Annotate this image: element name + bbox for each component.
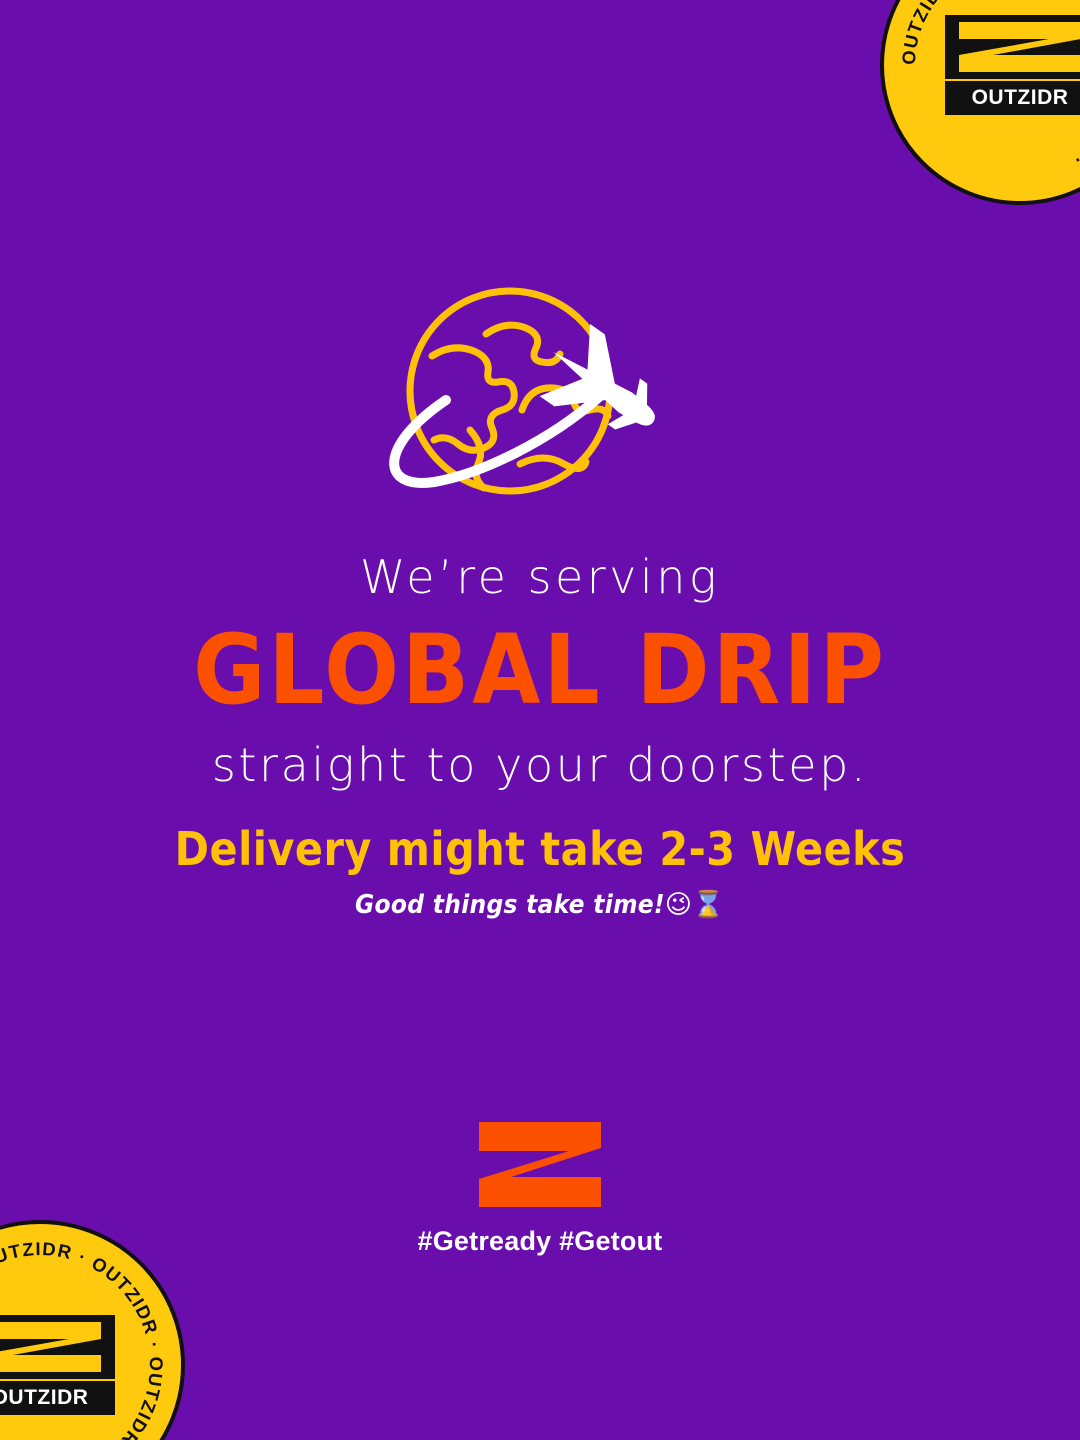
badge-wordmark-box: OUTZIDR: [0, 1381, 115, 1415]
headline-line-1: We’re serving: [0, 552, 1080, 603]
badge-wordmark-box: OUTZIDR: [945, 81, 1080, 115]
outzidr-badge-top-right: OUTZIDR · OUTZIDR · OUTZIDR · OUTZIDR · …: [880, 0, 1080, 205]
footer-block: #Getready #Getout: [0, 1122, 1080, 1257]
badge-core-top-right: OUTZIDR: [945, 15, 1080, 115]
hero-icon-wrap: [0, 278, 1080, 508]
badge-wordmark: OUTZIDR: [972, 86, 1069, 110]
delivery-emoji: 😉⌛: [665, 890, 725, 920]
headline-line-3: straight to your doorstep.: [0, 740, 1080, 791]
headline-line-2: GLOBAL DRIP: [0, 613, 1080, 728]
headline-block: We’re serving GLOBAL DRIP straight to yo…: [0, 552, 1080, 790]
badge-core-bottom-left: OUTZIDR: [0, 1315, 115, 1415]
delivery-subtext-row: Good things take time!😉⌛: [0, 890, 1080, 920]
badge-z-mark-icon: [0, 1315, 115, 1379]
footer-hashtags: #Getready #Getout: [0, 1226, 1080, 1257]
globe-airplane-icon: [370, 278, 710, 508]
outzidr-z-logo-icon: [479, 1122, 601, 1207]
delivery-block: Delivery might take 2-3 Weeks Good thing…: [0, 822, 1080, 920]
badge-wordmark: OUTZIDR: [0, 1386, 88, 1410]
delivery-subtext: Good things take time!: [355, 890, 665, 920]
promo-poster: OUTZIDR · OUTZIDR · OUTZIDR · OUTZIDR · …: [0, 0, 1080, 1440]
delivery-headline: Delivery might take 2-3 Weeks: [0, 822, 1080, 876]
badge-z-mark-icon: [945, 15, 1080, 79]
